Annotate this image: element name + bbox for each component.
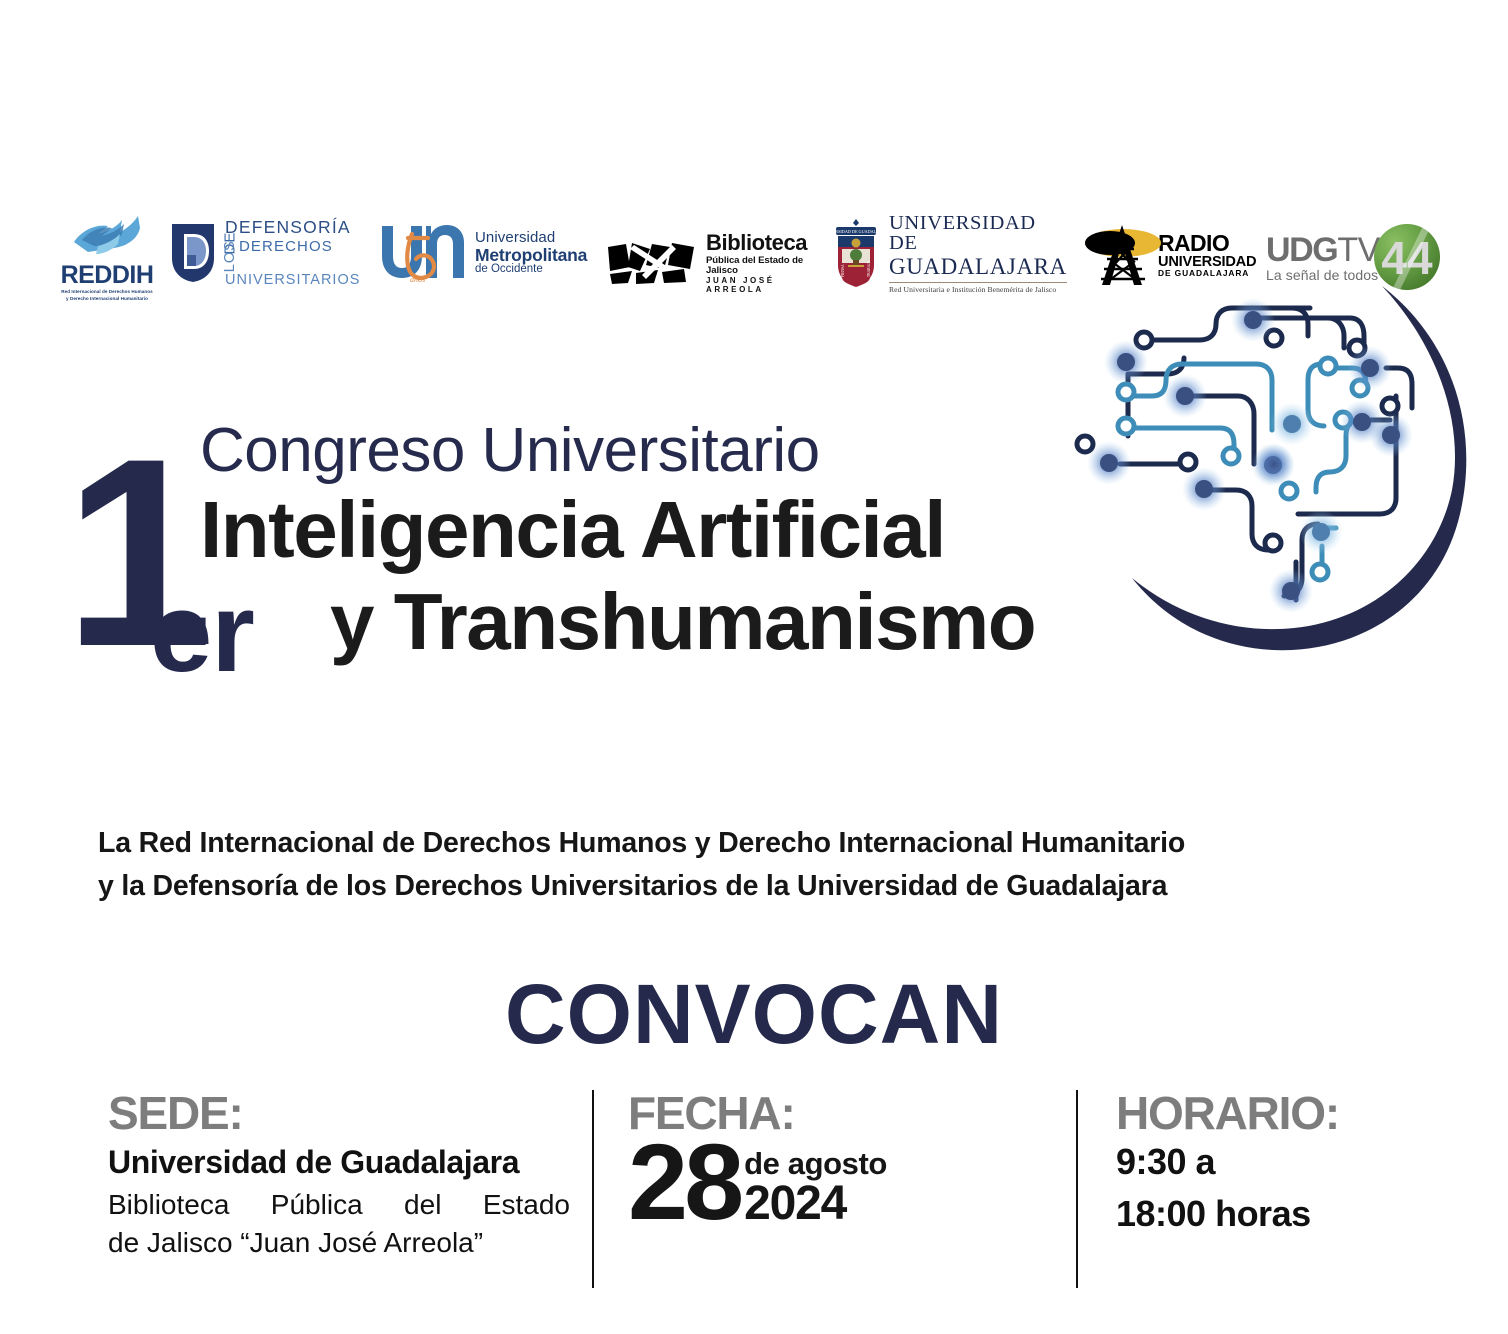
- column-divider-2: [1076, 1090, 1078, 1288]
- horario-label: HORARIO:: [1116, 1090, 1496, 1136]
- svg-text:44: 44: [1381, 232, 1433, 284]
- organizers-line-2: y la Defensoría de los Derechos Universi…: [98, 865, 1438, 908]
- logo-biblioteca-line3: JUAN JOSÉ ARREOLA: [706, 277, 816, 293]
- sede-venue: Universidad de Guadalajara: [108, 1144, 578, 1181]
- logo-biblioteca-line2: Pública del Estado de Jalisco: [706, 256, 816, 276]
- detail-fecha: FECHA: 28 de agosto 2024: [628, 1090, 1048, 1231]
- fecha-year: 2024: [744, 1179, 887, 1229]
- sede-address: Biblioteca Pública del Estado de Jalisco…: [108, 1186, 570, 1263]
- logo-udg-line1: UNIVERSIDAD DE: [889, 213, 1067, 254]
- dove-icon: [68, 212, 146, 260]
- svg-text:años: años: [410, 275, 425, 284]
- logo-reddih: REDDIH Red Internacional de Derechos Hum…: [48, 205, 166, 303]
- logo-reddih-tagline-1: Red Internacional de Derechos Humanos: [61, 289, 152, 296]
- logo-radio-line2: UNIVERSIDAD: [1158, 255, 1256, 269]
- svg-text:TRABAJA: TRABAJA: [867, 260, 871, 277]
- logo-udg-line3: Red Universitaria e Institución Beneméri…: [889, 286, 1067, 294]
- logo-biblioteca: Biblioteca Pública del Estado de Jalisco…: [606, 237, 816, 289]
- logo-biblioteca-text: Biblioteca Pública del Estado de Jalisco…: [706, 232, 816, 293]
- logo-umo-line2: Metropolitana: [475, 246, 587, 264]
- convocan-heading: CONVOCAN: [0, 972, 1508, 1056]
- poster-canvas: REDDIH Red Internacional de Derechos Hum…: [0, 0, 1508, 1334]
- horario-line-1: 9:30 a: [1116, 1136, 1496, 1188]
- fecha-day: 28: [628, 1132, 740, 1231]
- column-divider-1: [592, 1090, 594, 1288]
- logo-udg-line2: GUADALAJARA: [889, 255, 1067, 278]
- logo-udg-text: UNIVERSIDAD DE GUADALAJARA Red Universit…: [889, 213, 1067, 294]
- logo-biblioteca-line1: Biblioteca: [706, 232, 816, 254]
- detail-sede: SEDE: Universidad de Guadalajara Bibliot…: [108, 1090, 578, 1263]
- logo-defensoria-line2: DEDERECHOS: [225, 239, 360, 255]
- horario-line-2: 18:00 horas: [1116, 1188, 1496, 1240]
- logo-reddih-tagline-2: y Derecho Internacional Humanitario: [66, 296, 148, 303]
- logo-radio-line3: DE GUADALAJARA: [1158, 269, 1256, 277]
- sede-address-line-2: de Jalisco “Juan José Arreola”: [108, 1224, 570, 1263]
- logo-radio-text: RADIO UNIVERSIDAD DE GUADALAJARA: [1158, 232, 1256, 277]
- logo-defensoria-line3: LOSUNIVERSITARIOS: [225, 258, 360, 287]
- udg-crest-icon: UNIVERSIDAD DE GUADALAJARA PIENSA TRABAJ…: [832, 217, 880, 289]
- logo-umo-line1: Universidad: [475, 230, 587, 246]
- congress-title-line-1: Inteligencia Artificial: [200, 490, 945, 570]
- svg-text:PIENSA: PIENSA: [841, 264, 845, 277]
- logo-defensoria: DEFENSORÍA DEDERECHOS LOSUNIVERSITARIOS: [170, 212, 350, 294]
- logo-universidad-de-guadalajara: UNIVERSIDAD DE GUADALAJARA PIENSA TRABAJ…: [832, 212, 1060, 294]
- fecha-month-year: de agosto 2024: [744, 1148, 887, 1229]
- logo-radio-line1: RADIO: [1158, 232, 1256, 255]
- shield-d-icon: [170, 222, 216, 284]
- organizers-line-1: La Red Internacional de Derechos Humanos…: [98, 822, 1438, 865]
- biblioteca-shards-icon: [606, 241, 698, 285]
- ai-circuit-brain-icon: [1060, 278, 1480, 680]
- logo-udgtv-udg: UDG: [1266, 231, 1337, 269]
- logo-udgtv-line1: UDGTV: [1266, 233, 1380, 267]
- logo-defensoria-line3-text: UNIVERSITARIOS: [225, 272, 360, 288]
- logo-udgtv-text: UDGTV La señal de todos: [1266, 233, 1380, 282]
- sede-label: SEDE:: [108, 1090, 578, 1136]
- ordinal-suffix: er: [150, 577, 254, 689]
- logo-defensoria-line2-text: DERECHOS: [239, 238, 333, 255]
- logo-defensoria-small2: LOS: [223, 258, 238, 272]
- umo-monogram-icon: años: [378, 222, 470, 284]
- congress-subtitle: Congreso Universitario: [200, 420, 820, 482]
- fecha-value: 28 de agosto 2024: [628, 1132, 1048, 1231]
- logo-reddih-wordmark: REDDIH: [61, 263, 154, 288]
- sponsor-logo-bar: REDDIH Red Internacional de Derechos Hum…: [0, 100, 1508, 210]
- detail-horario: HORARIO: 9:30 a 18:00 horas: [1116, 1090, 1496, 1240]
- logo-umo-line3: de Occidente: [475, 264, 587, 276]
- ordinal-number: 1: [64, 418, 203, 686]
- logo-defensoria-line1: DEFENSORÍA: [225, 219, 360, 237]
- organizers-statement: La Red Internacional de Derechos Humanos…: [98, 822, 1438, 909]
- logo-defensoria-text: DEFENSORÍA DEDERECHOS LOSUNIVERSITARIOS: [225, 219, 360, 287]
- svg-text:UNIVERSIDAD DE GUADALAJARA: UNIVERSIDAD DE GUADALAJARA: [832, 229, 880, 234]
- sede-address-line-1: Biblioteca Pública del Estado: [108, 1186, 570, 1225]
- event-details: SEDE: Universidad de Guadalajara Bibliot…: [0, 1090, 1508, 1300]
- logo-universidad-metropolitana: años Universidad Metropolitana de Occide…: [378, 216, 578, 290]
- logo-udg-rule: [889, 282, 1067, 283]
- logo-umo-text: Universidad Metropolitana de Occidente: [475, 230, 587, 276]
- congress-title-line-2: y Transhumanismo: [330, 582, 1035, 662]
- fecha-month: de agosto: [744, 1148, 887, 1181]
